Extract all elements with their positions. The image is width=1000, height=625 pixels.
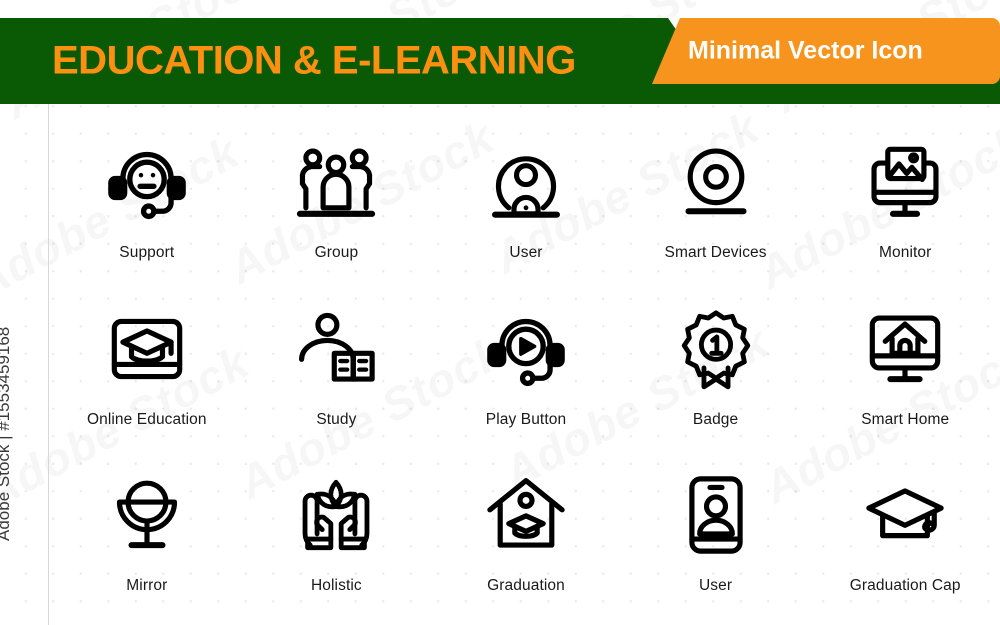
stock-credit-text: Adobe Stock | #1553459168 [0,327,14,541]
icon-cell-online-education[interactable]: Online Education [52,285,242,452]
icon-cell-play-button[interactable]: Play Button [431,285,621,452]
rail-divider [48,104,49,625]
smart-home-monitor-icon [853,299,957,399]
icon-grid: Support Group [52,118,1000,618]
icon-label: Support [119,244,174,262]
icon-label: Study [316,411,356,429]
graduation-cap-icon [853,465,957,565]
icon-label: User [699,577,732,595]
icon-label: Online Education [87,411,207,429]
icon-cell-monitor[interactable]: Monitor [810,118,1000,285]
icon-cell-user-phone[interactable]: User [621,451,811,618]
mirror-icon [95,465,199,565]
headset-face-icon [95,132,199,232]
icon-label: Mirror [126,577,167,595]
page-title: EDUCATION & E-LEARNING [52,39,576,84]
icon-cell-user[interactable]: User [431,118,621,285]
monitor-image-icon [853,132,957,232]
study-person-book-icon [284,299,388,399]
icon-label: Group [315,244,359,262]
graduation-house-icon [474,465,578,565]
icon-cell-badge[interactable]: Badge [621,285,811,452]
icon-label: Smart Devices [665,244,767,262]
header-banner: EDUCATION & E-LEARNING Minimal Vector Ic… [0,18,1000,104]
icon-cell-smart-home[interactable]: Smart Home [810,285,1000,452]
icon-cell-support[interactable]: Support [52,118,242,285]
smart-devices-icon [664,132,768,232]
online-education-icon [95,299,199,399]
icon-label: Play Button [486,411,566,429]
user-circle-icon [474,132,578,232]
icon-cell-smart-devices[interactable]: Smart Devices [621,118,811,285]
icon-label: User [509,244,542,262]
group-people-icon [284,132,388,232]
user-phone-icon [664,465,768,565]
credit-rail: Adobe Stock | #1553459168 [0,104,49,625]
icon-cell-mirror[interactable]: Mirror [52,451,242,618]
icon-cell-holistic[interactable]: Holistic [242,451,432,618]
icon-cell-study[interactable]: Study [242,285,432,452]
badge-rosette-icon [664,299,768,399]
holistic-hands-leaf-icon [284,465,388,565]
icon-label: Graduation [487,577,565,595]
icon-label: Badge [693,411,738,429]
icon-label: Monitor [879,244,931,262]
icon-cell-group[interactable]: Group [242,118,432,285]
icon-label: Graduation Cap [850,577,961,595]
icon-label: Smart Home [861,411,949,429]
icon-label: Holistic [311,577,362,595]
header-tab-label: Minimal Vector Icon [688,37,923,66]
icon-cell-graduation-cap[interactable]: Graduation Cap [810,451,1000,618]
icon-cell-graduation[interactable]: Graduation [431,451,621,618]
headset-play-icon [474,299,578,399]
